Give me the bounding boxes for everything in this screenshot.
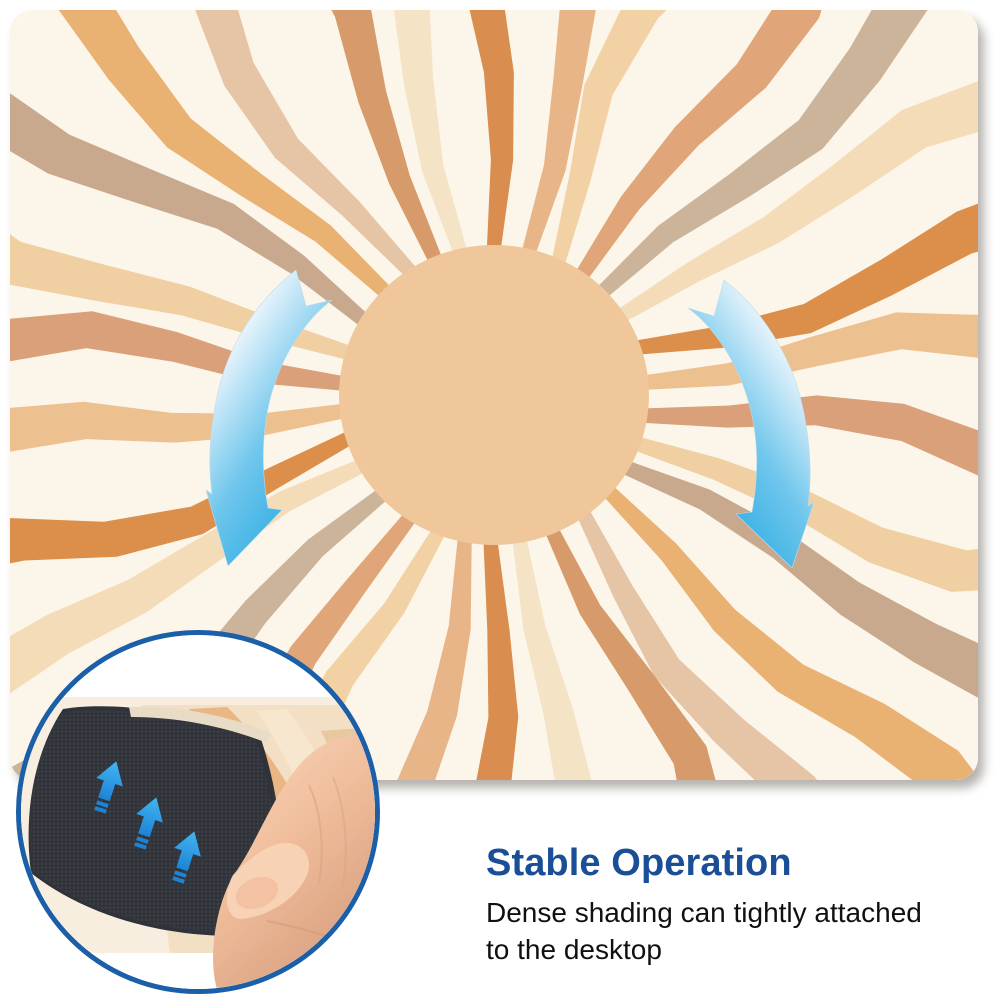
caption-heading: Stable Operation	[486, 840, 956, 886]
caption-body-line-1: Dense shading can tightly attached	[486, 894, 956, 931]
sun-center-disc	[339, 245, 649, 545]
curved-arrow-left	[206, 268, 336, 568]
caption-body-line-2: to the desktop	[486, 931, 956, 968]
inset-photo	[21, 635, 375, 989]
caption-block: Stable Operation Dense shading can tight…	[486, 840, 956, 968]
anti-slip-base-closeup	[16, 630, 380, 994]
curved-arrow-right	[686, 278, 816, 568]
